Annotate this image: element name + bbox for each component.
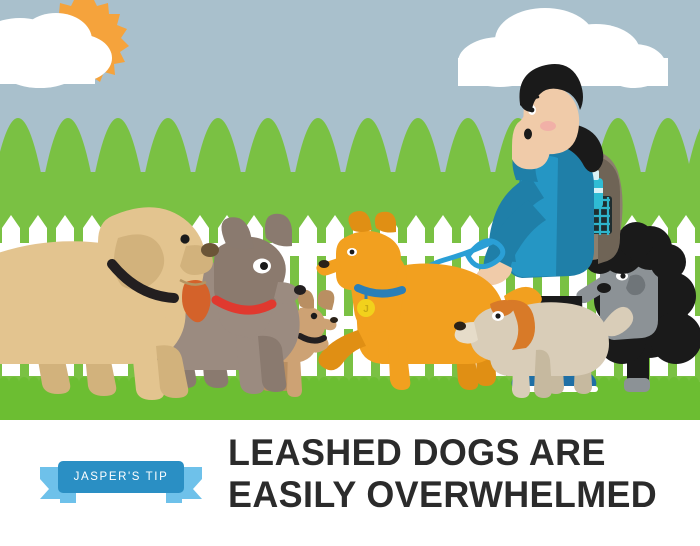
headline: LEASHED DOGS ARE EASILY OVERWHELMED (228, 432, 698, 516)
scene-svg: J (0, 0, 700, 420)
illustration-scene: J (0, 0, 700, 420)
jaspers-tip-ribbon[interactable]: JASPER'S TIP (40, 461, 202, 505)
ribbon-shape (40, 461, 202, 505)
headline-line-2: EASILY OVERWHELMED (228, 474, 684, 516)
dog-tag-letter: J (363, 304, 369, 315)
poster-root: J (0, 0, 700, 546)
headline-line-1: LEASHED DOGS ARE (228, 432, 684, 474)
